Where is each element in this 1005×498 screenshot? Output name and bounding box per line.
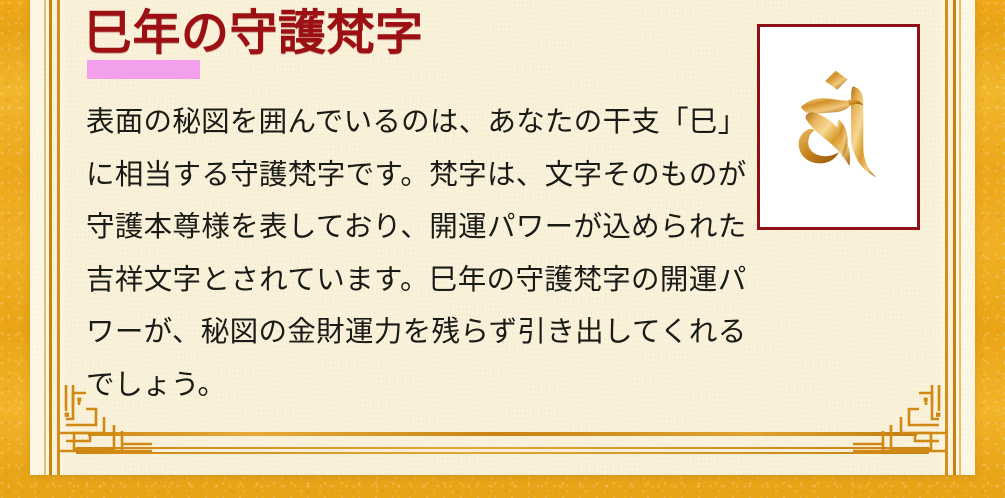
bottom-rule-thin-upper <box>76 447 929 449</box>
meander-corner-ornament-right <box>853 385 949 459</box>
certificate-page: 巳年の守護梵字 表面の秘図を囲んでいるのは、あなたの干支「巳」に相当する守護梵字… <box>0 0 1005 498</box>
body-paragraph: 表面の秘図を囲んでいるのは、あなたの干支「巳」に相当する守護梵字です。梵字は、文… <box>86 96 746 411</box>
siddham-bonji-character-icon <box>760 27 917 227</box>
page-title-block: 巳年の守護梵字 <box>84 8 424 60</box>
bonji-plate <box>757 24 920 230</box>
page-title: 巳年の守護梵字 <box>84 8 424 60</box>
bottom-rule-thick <box>88 432 917 436</box>
bottom-rule-thin-lower <box>76 452 929 454</box>
title-highlight-marker <box>87 60 200 79</box>
